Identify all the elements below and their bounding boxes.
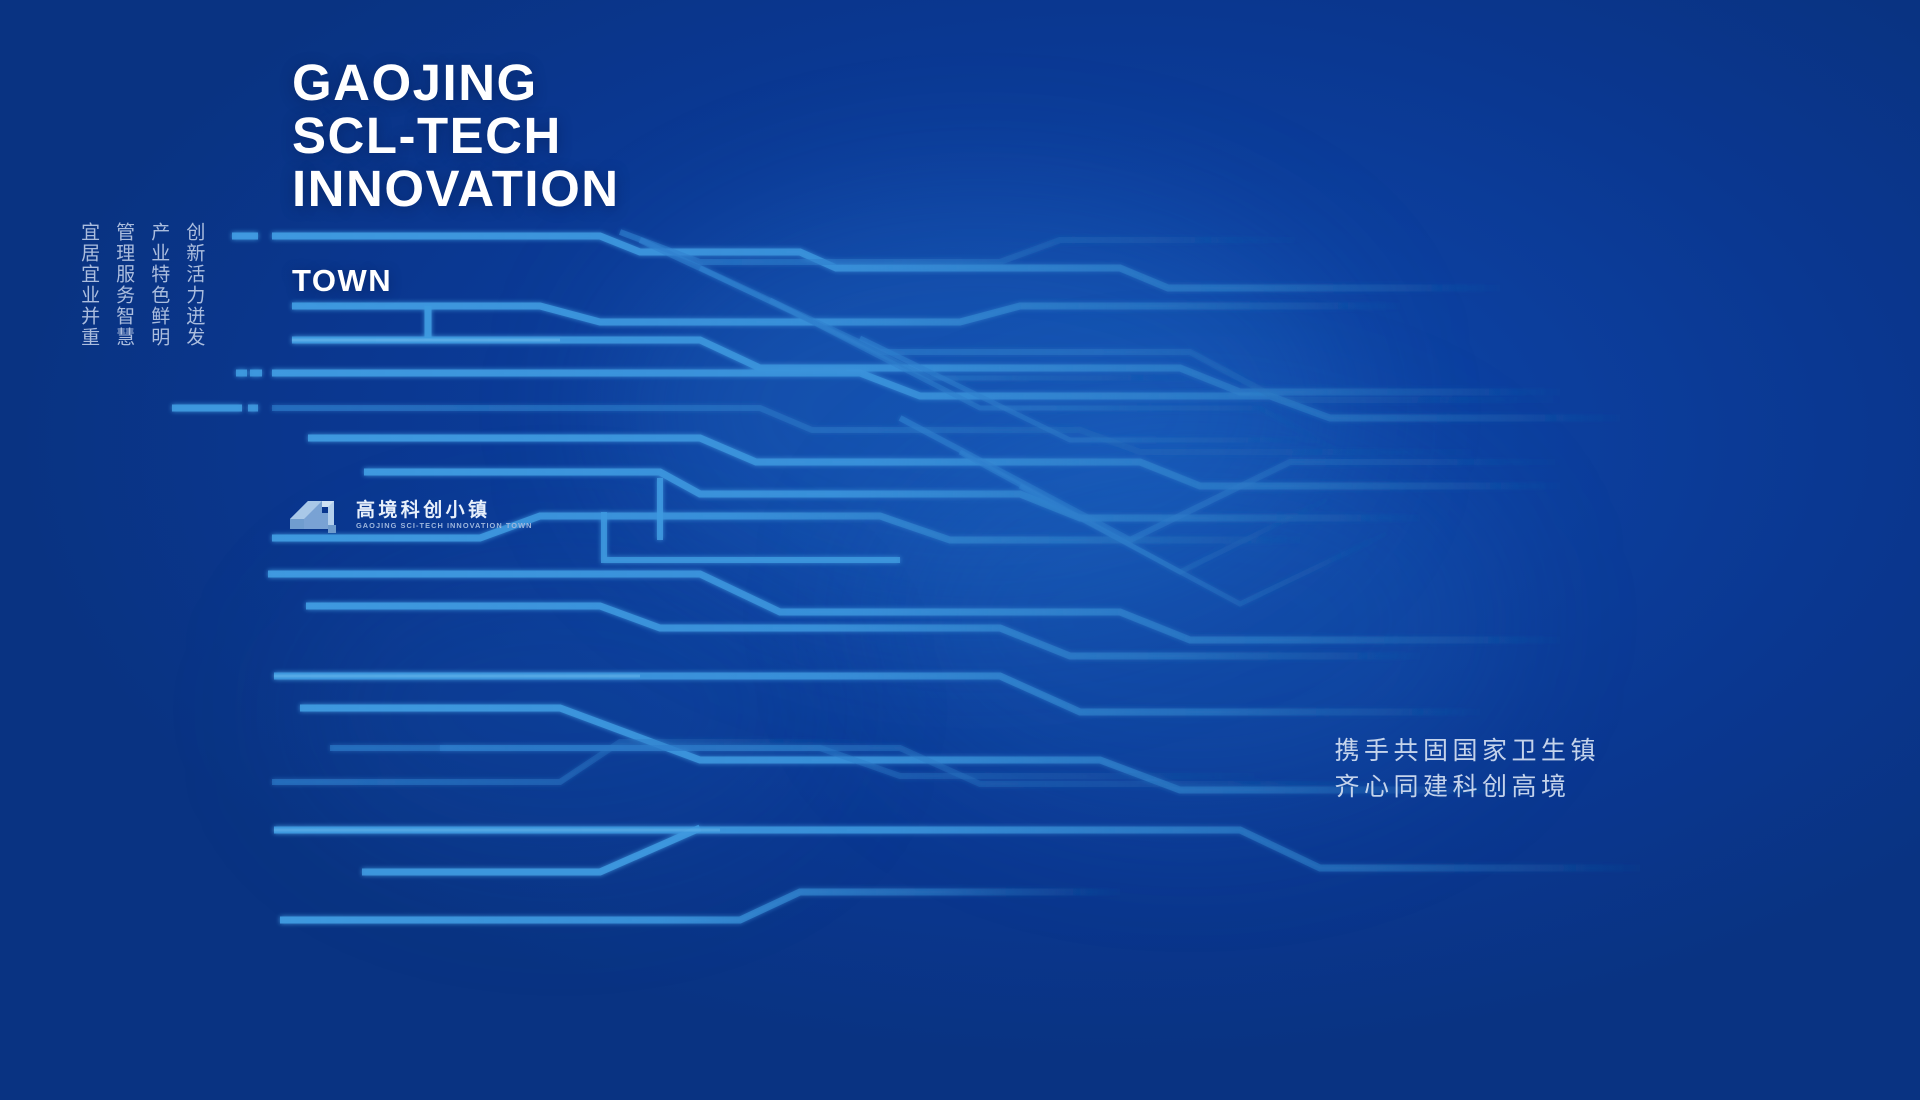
logo-name-cn: 高境科创小镇 <box>356 501 533 520</box>
headline-line-4: TOWN <box>292 263 392 299</box>
logo-name-en: GAOJING SCI-TECH INNOVATION TOWN <box>356 522 533 529</box>
headline-line-3: INNOVATION <box>292 162 620 215</box>
vertical-slogan-col-3: 管理服务智慧 <box>111 222 136 348</box>
vertical-slogan-col-4: 宜居宜业并重 <box>76 222 101 348</box>
page-title: GAOJING SCL-TECH INNOVATION <box>292 56 620 215</box>
vertical-slogan-col-1: 创新活力迸发 <box>181 222 206 348</box>
logo-text-block: 高境科创小镇 GAOJING SCI-TECH INNOVATION TOWN <box>356 501 533 529</box>
poster-canvas: GAOJING SCL-TECH INNOVATION TOWN 创新活力迸发 … <box>0 0 1920 1100</box>
vertical-slogan-col-2: 产业特色鲜明 <box>146 222 171 348</box>
vertical-slogan: 创新活力迸发 产业特色鲜明 管理服务智慧 宜居宜业并重 <box>76 222 206 348</box>
brand-logo: 高境科创小镇 GAOJING SCI-TECH INNOVATION TOWN <box>288 495 533 535</box>
bottom-slogan: 携手共固国家卫生镇 齐心同建科创高境 <box>1334 734 1600 805</box>
headline-line-1: GAOJING <box>292 56 620 109</box>
headline-line-2: SCL-TECH <box>292 109 620 162</box>
circuit-trace-pattern <box>0 0 1920 1100</box>
bottom-slogan-line-1: 携手共固国家卫生镇 <box>1334 734 1600 770</box>
bottom-slogan-line-2: 齐心同建科创高境 <box>1334 770 1600 806</box>
house-roof-icon <box>288 495 345 535</box>
